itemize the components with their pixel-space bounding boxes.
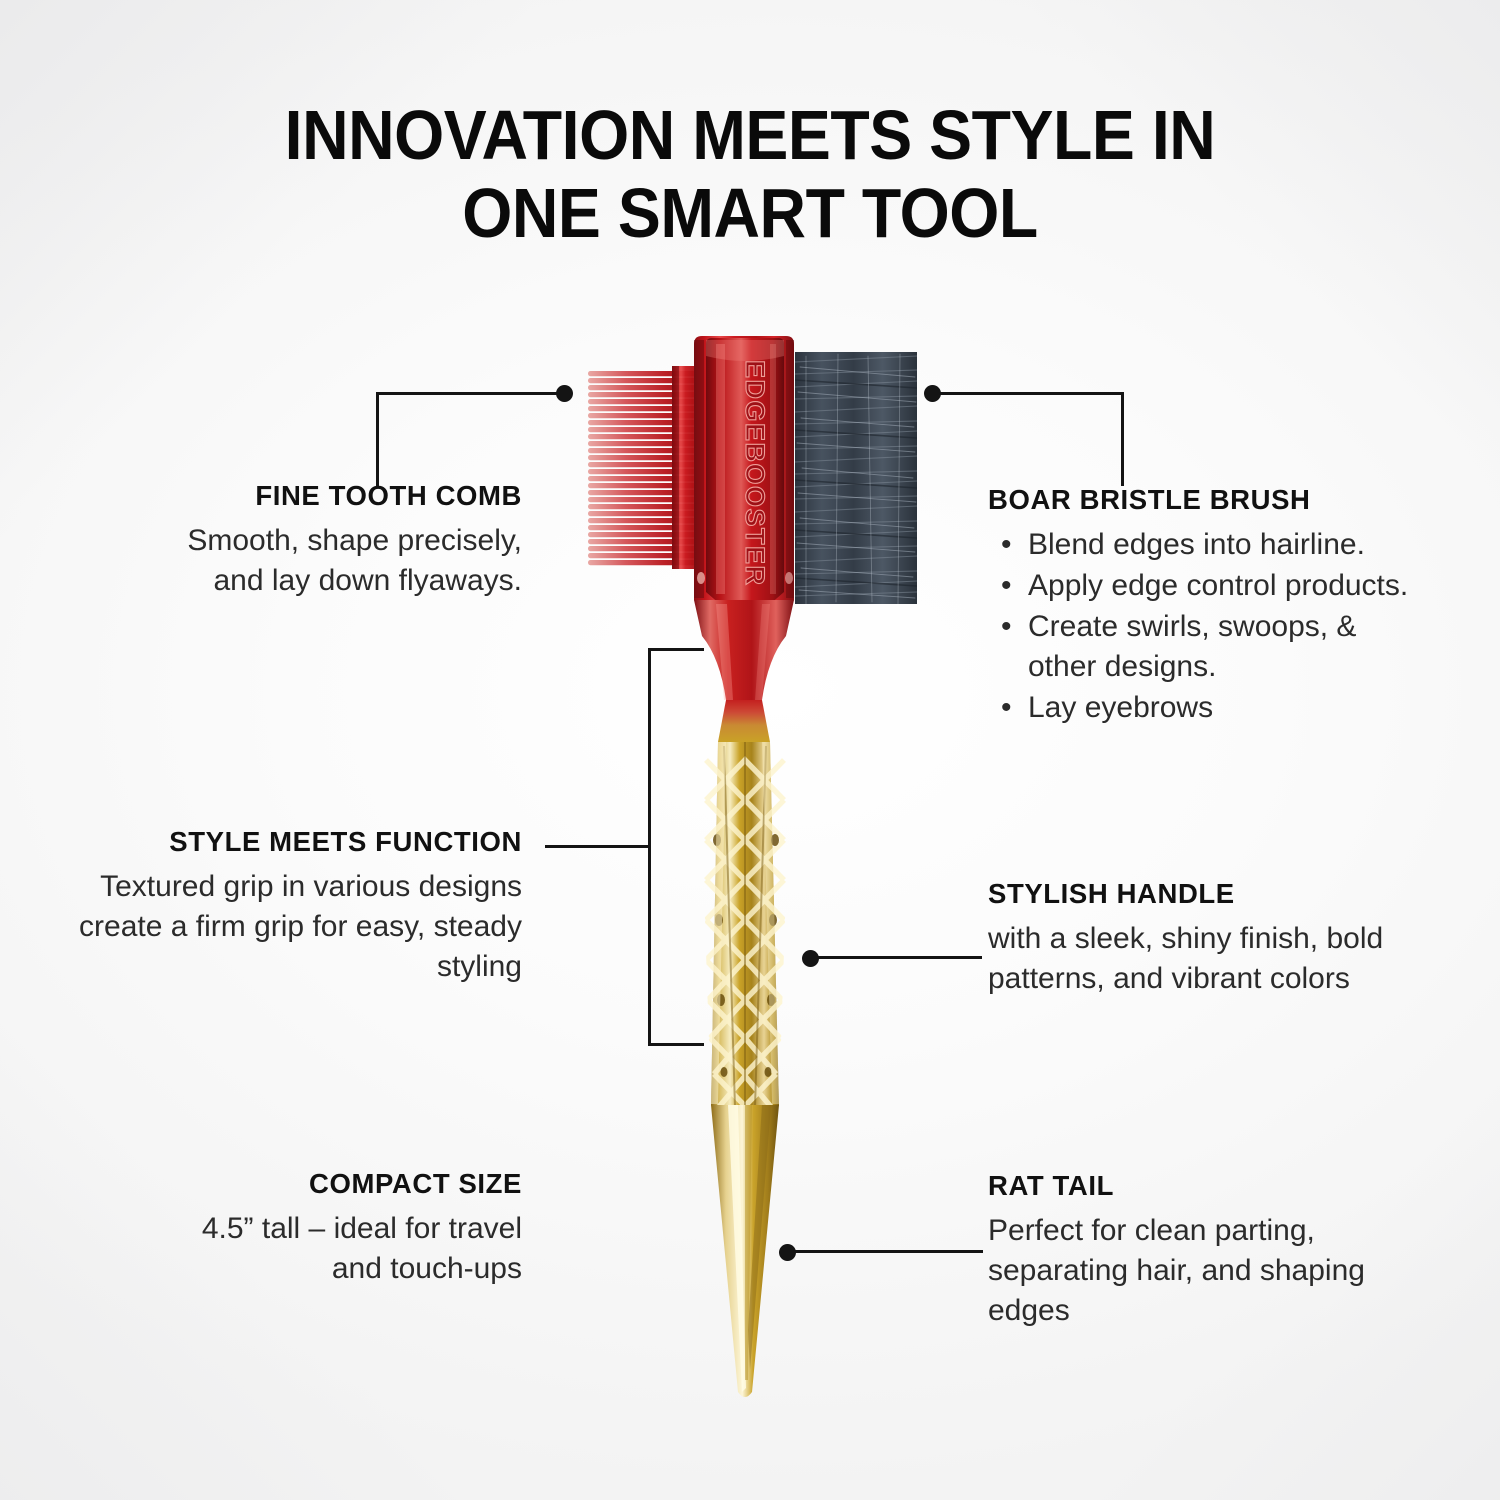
leader-bracket-style-meets-function [545, 648, 675, 1046]
bullet-icon: • [1001, 688, 1012, 728]
bullet-icon: • [1001, 607, 1012, 647]
callout-body-rat-tail: Perfect for clean parting, separating ha… [988, 1211, 1388, 1331]
leader-line-stylish-handle [800, 950, 992, 970]
list-item-label: Create swirls, swoops, & other designs. [1028, 610, 1356, 683]
leader-line-fine-tooth-comb [340, 392, 590, 492]
callout-heading-rat-tail: RAT TAIL [988, 1170, 1388, 1202]
callout-fine-tooth-comb: FINE TOOTH COMB Smooth, shape precisely,… [150, 480, 522, 601]
product-red-body: EDGEBOOSTER [694, 336, 794, 640]
bullet-icon: • [1001, 566, 1012, 606]
callout-body-style-meets-function: Textured grip in various designs create … [78, 867, 522, 987]
callout-heading-compact-size: COMPACT SIZE [160, 1168, 522, 1200]
callout-compact-size: COMPACT SIZE 4.5” tall – ideal for trave… [160, 1168, 522, 1289]
callout-body-compact-size: 4.5” tall – ideal for travel and touch-u… [160, 1209, 522, 1289]
callout-bullet-list-boar-bristle-brush: • Blend edges into hairline. • Apply edg… [988, 525, 1430, 727]
leader-endpoint-dot [779, 1244, 796, 1261]
leader-horizontal-segment [810, 956, 982, 959]
leader-horizontal-segment [376, 392, 564, 395]
callout-body-stylish-handle: with a sleek, shiny finish, bold pattern… [988, 919, 1408, 999]
bullet-icon: • [1001, 525, 1012, 565]
product-rat-tail [711, 1105, 779, 1397]
leader-vertical-segment [1121, 392, 1124, 486]
list-item: • Blend edges into hairline. [988, 525, 1430, 565]
callout-heading-boar-bristle-brush: BOAR BRISTLE BRUSH [988, 484, 1430, 516]
callout-boar-bristle-brush: BOAR BRISTLE BRUSH • Blend edges into ha… [988, 484, 1430, 728]
fine-tooth-comb-teeth [588, 366, 706, 569]
callout-style-meets-function: STYLE MEETS FUNCTION Textured grip in va… [78, 826, 522, 987]
leader-horizontal-segment [787, 1250, 983, 1253]
callout-heading-style-meets-function: STYLE MEETS FUNCTION [78, 826, 522, 858]
leader-endpoint-dot [556, 385, 573, 402]
bracket-top-arm [648, 648, 704, 651]
list-item-label: Apply edge control products. [1028, 569, 1408, 602]
list-item: • Create swirls, swoops, & other designs… [988, 607, 1430, 687]
leader-endpoint-dot [924, 385, 941, 402]
list-item-label: Blend edges into hairline. [1028, 528, 1365, 561]
product-neck [694, 600, 794, 700]
leader-endpoint-dot [802, 950, 819, 967]
bracket-stem [545, 845, 651, 848]
callout-rat-tail: RAT TAIL Perfect for clean parting, sepa… [988, 1170, 1388, 1331]
callout-heading-stylish-handle: STYLISH HANDLE [988, 878, 1408, 910]
bracket-bottom-arm [648, 1043, 704, 1046]
list-item: • Lay eyebrows [988, 688, 1430, 728]
callout-stylish-handle: STYLISH HANDLE with a sleek, shiny finis… [988, 878, 1408, 999]
leader-horizontal-segment [932, 392, 1124, 395]
list-item: • Apply edge control products. [988, 566, 1430, 606]
infographic-page: INNOVATION MEETS STYLE IN ONE SMART TOOL [0, 0, 1500, 1500]
page-title-line-1: INNOVATION MEETS STYLE IN [60, 96, 1440, 174]
page-title: INNOVATION MEETS STYLE IN ONE SMART TOOL [60, 96, 1440, 253]
leader-line-rat-tail [777, 1244, 991, 1264]
list-item-label: Lay eyebrows [1028, 691, 1213, 724]
page-title-line-2: ONE SMART TOOL [60, 174, 1440, 252]
callout-heading-fine-tooth-comb: FINE TOOTH COMB [150, 480, 522, 512]
boar-bristle-brush-head [795, 352, 917, 604]
leader-line-boar-bristle-brush [918, 392, 1148, 492]
leader-vertical-segment [376, 392, 379, 486]
product-handle [706, 700, 784, 1200]
callout-body-fine-tooth-comb: Smooth, shape precisely, and lay down fl… [150, 521, 522, 601]
brand-text-edgebooster: EDGEBOOSTER [740, 360, 770, 587]
